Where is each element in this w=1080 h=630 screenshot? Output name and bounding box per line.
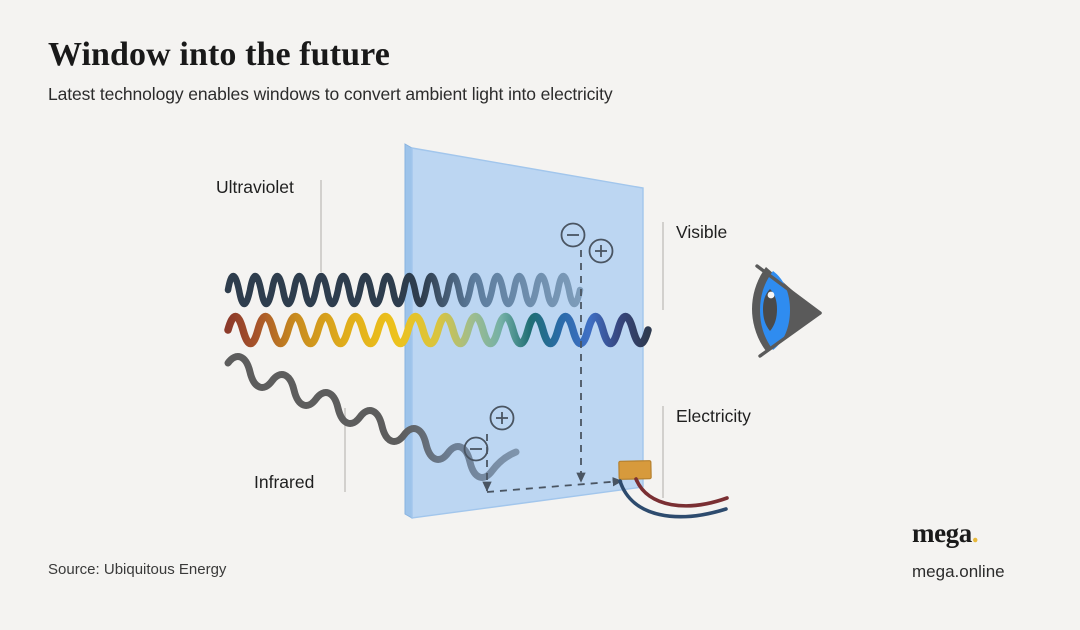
brand-logo-name: mega	[912, 518, 972, 548]
label-infrared: Infrared	[254, 472, 314, 493]
source-credit: Source: Ubiquitous Energy	[48, 561, 226, 578]
eye-icon	[752, 266, 820, 356]
wire-positive	[636, 479, 727, 506]
infographic-canvas: Window into the future Latest technology…	[0, 0, 1080, 630]
brand-logo: mega.	[912, 518, 978, 549]
electrode-contact	[619, 461, 651, 480]
label-electricity: Electricity	[676, 406, 751, 427]
label-visible: Visible	[676, 222, 727, 243]
brand-logo-dot: .	[972, 518, 978, 548]
label-ultraviolet: Ultraviolet	[216, 177, 294, 198]
brand-url: mega.online	[912, 562, 1005, 582]
